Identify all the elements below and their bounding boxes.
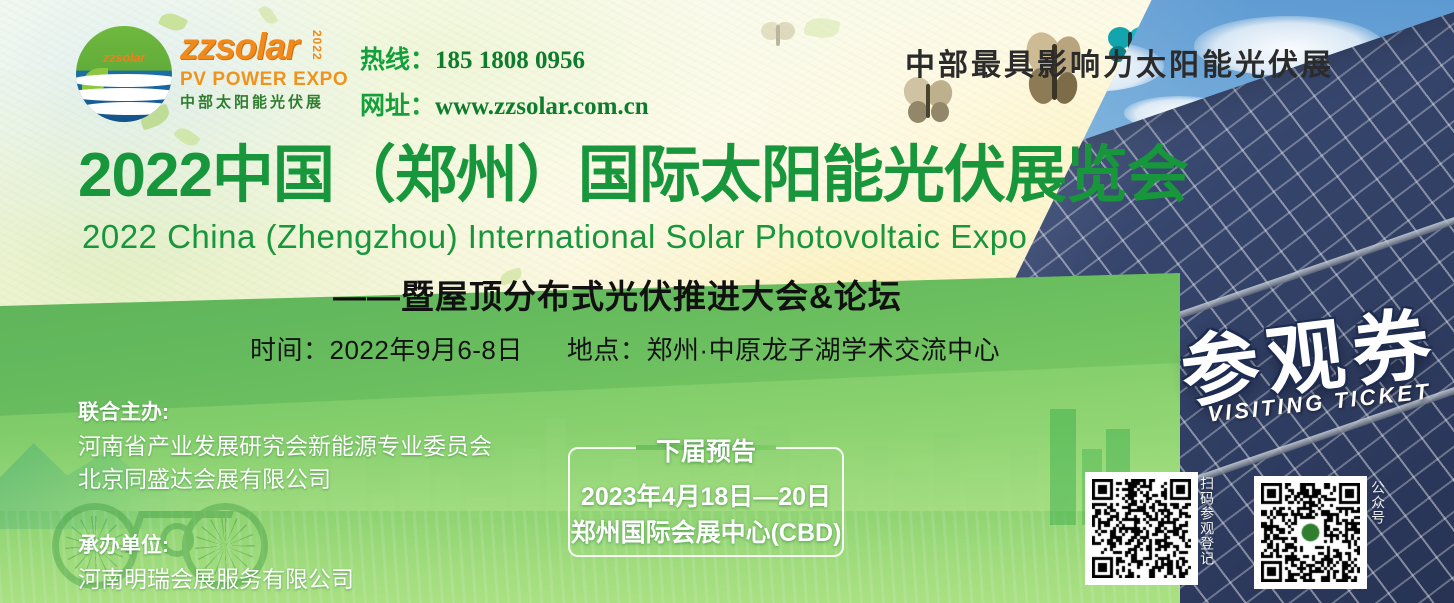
co-host-label: 联合主办: [78, 397, 492, 430]
next-edition-heading: 下届预告 [644, 432, 768, 468]
undertaker-label: 承办单位: [78, 530, 492, 563]
event-meta: 时间：2022年9月6-8日地点：郑州·中原龙子湖学术交流中心 [250, 330, 1000, 367]
next-edition-box: 下届预告 2023年4月18日—20日 郑州国际会展中心(CBD) [568, 447, 844, 557]
page-subtitle: ——暨屋顶分布式光伏推进大会&论坛 [333, 270, 902, 318]
expo-banner: zzsolar zzsolar PV POWER EXPO 中部太阳能光伏展 2… [0, 0, 1454, 603]
website-row: 网址：www.zzsolar.com.cn [360, 84, 649, 130]
next-edition-venue: 郑州国际会展中心(CBD) [570, 513, 842, 549]
butterfly-icon [760, 20, 796, 50]
time-value: 2022年9月6-8日 [330, 335, 523, 365]
page-title-english: 2022 China (Zhengzhou) International Sol… [82, 218, 1027, 256]
contact-info: 热线：185 1808 0956 网址：www.zzsolar.com.cn [360, 38, 649, 131]
logo-emblem-icon: zzsolar [76, 26, 172, 122]
place-label: 地点： [567, 335, 647, 365]
co-host-2: 北京同盛达会展有限公司 [78, 463, 492, 496]
page-title: 2022中国（郑州）国际太阳能光伏展览会 [78, 145, 1188, 207]
tagline: 中部最具影响力太阳能光伏展 [905, 40, 1334, 84]
logo-wordmark-sub: PV POWER EXPO [180, 67, 348, 93]
co-host-1: 河南省产业发展研究会新能源专业委员会 [78, 430, 492, 463]
logo-emblem-text: zzsolar [76, 50, 172, 65]
hotline-row: 热线：185 1808 0956 [360, 38, 649, 84]
organizers-block: 联合主办: 河南省产业发展研究会新能源专业委员会 北京同盛达会展有限公司 承办单… [78, 397, 492, 596]
tower-silhouette [1050, 409, 1076, 525]
qr-label-register: 扫码参观登记 [1199, 476, 1215, 584]
time-label: 时间： [250, 335, 330, 365]
qr-label-official-account: 公众号 [1370, 480, 1386, 580]
logo-wordmark-cn: 中部太阳能光伏展 [180, 93, 348, 113]
logo-year-badge: 2022 [310, 30, 324, 61]
qr-code-register[interactable] [1085, 472, 1198, 585]
hotline-label: 热线： [360, 47, 435, 74]
hotline-value[interactable]: 185 1808 0956 [435, 47, 585, 74]
place-value: 郑州·中原龙子湖学术交流中心 [646, 335, 1000, 365]
undertaker-1: 河南明瑞会展服务有限公司 [78, 563, 492, 596]
qr-code-official-account[interactable] [1254, 476, 1367, 589]
website-label: 网址： [360, 93, 435, 120]
website-value[interactable]: www.zzsolar.com.cn [435, 93, 649, 120]
brand-logo[interactable]: zzsolar zzsolar PV POWER EXPO 中部太阳能光伏展 2… [76, 24, 351, 124]
next-edition-dates: 2023年4月18日—20日 [570, 477, 842, 513]
